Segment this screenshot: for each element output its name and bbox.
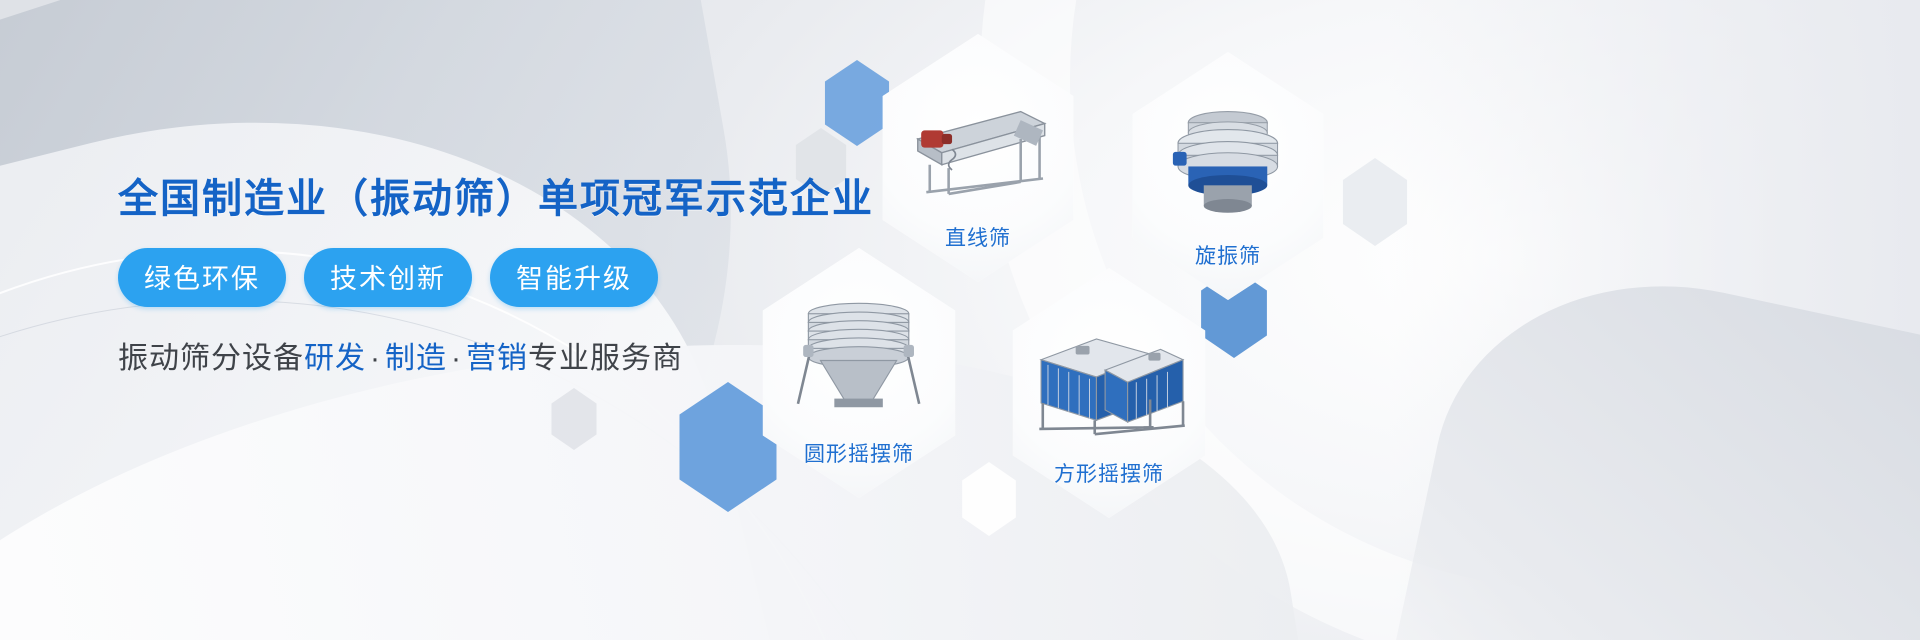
hero-banner: 直线筛 旋振筛 — [0, 0, 1920, 640]
subtitle-separator-1: · — [366, 342, 385, 375]
product-square-swing[interactable]: 方形摇摆筛 — [998, 268, 1220, 518]
product-caption: 方形摇摆筛 — [998, 458, 1220, 488]
subtitle-highlight-mfg: 制造 — [385, 342, 447, 375]
decor-hexagon-grey-right — [1338, 158, 1412, 246]
feature-pill-green[interactable]: 绿色环保 — [118, 248, 286, 307]
subtitle: 振动筛分设备研发·制造·营销专业服务商 — [118, 333, 938, 377]
rotary-vibrating-screen-icon — [1142, 87, 1314, 241]
decor-hexagon-grey-bottom — [548, 388, 600, 450]
feature-pill-intelligent[interactable]: 智能升级 — [490, 248, 658, 307]
background-corner-right — [1373, 241, 1920, 640]
subtitle-tail: 专业服务商 — [528, 342, 683, 375]
product-rotary-screen[interactable]: 旋振筛 — [1118, 52, 1338, 300]
page-title: 全国制造业（振动筛）单项冠军示范企业 — [118, 176, 938, 222]
subtitle-highlight-sales: 营销 — [466, 342, 528, 375]
square-swing-screen-icon — [1022, 303, 1195, 458]
subtitle-highlight-rd: 研发 — [304, 342, 366, 375]
subtitle-lead: 振动筛分设备 — [118, 342, 304, 375]
product-caption: 圆形摇摆筛 — [748, 438, 970, 468]
product-caption: 旋振筛 — [1118, 240, 1338, 270]
feature-pill-list: 绿色环保 技术创新 智能升级 — [118, 248, 938, 307]
decor-hexagon-white-bottom — [958, 462, 1020, 536]
subtitle-separator-2: · — [447, 342, 466, 375]
hero-copy: 全国制造业（振动筛）单项冠军示范企业 绿色环保 技术创新 智能升级 振动筛分设备… — [118, 176, 938, 377]
feature-pill-innovation[interactable]: 技术创新 — [304, 248, 472, 307]
